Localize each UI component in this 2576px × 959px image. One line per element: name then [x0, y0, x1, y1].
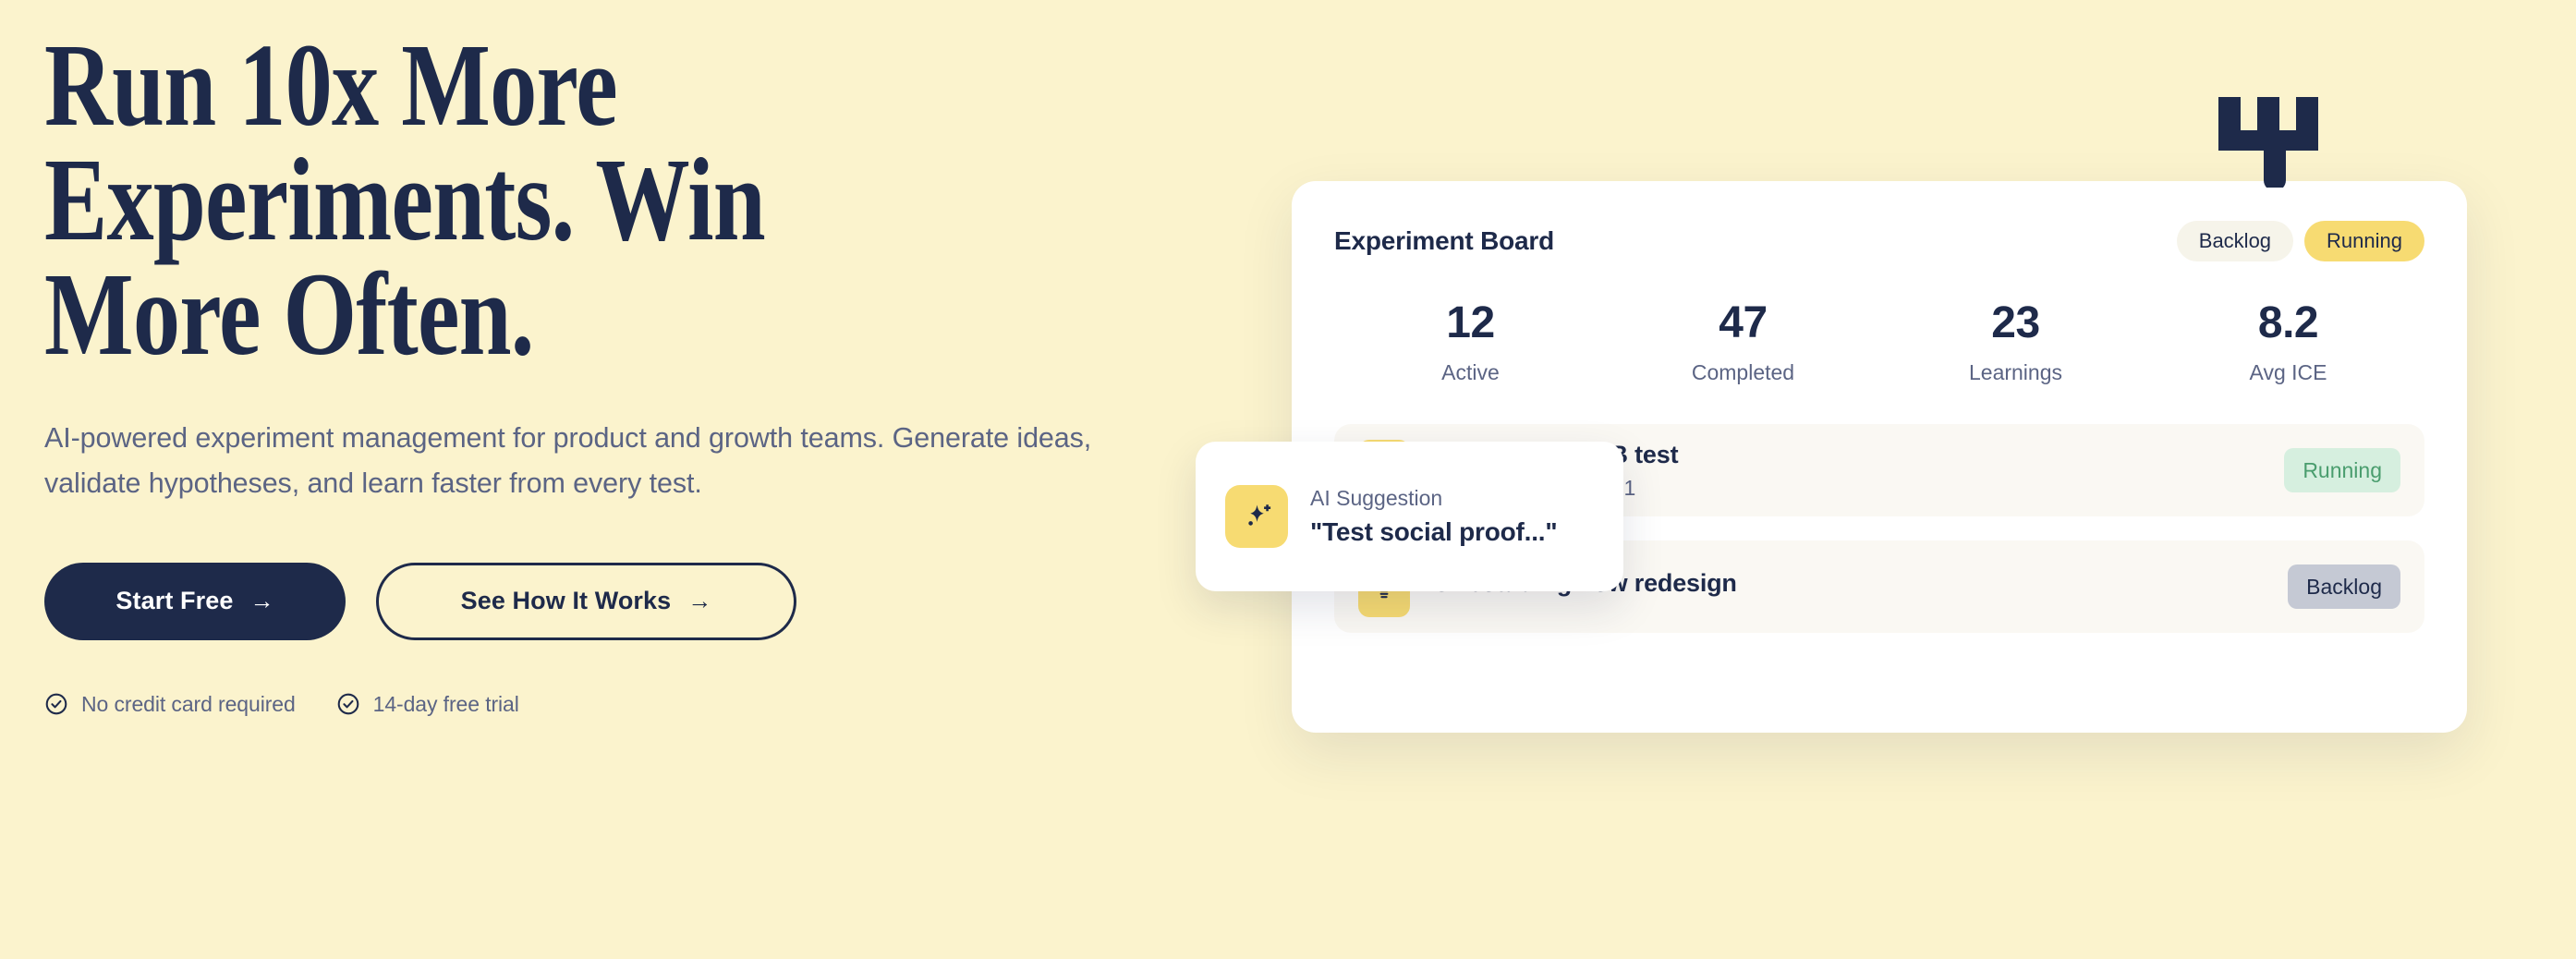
board-title: Experiment Board [1334, 226, 1554, 256]
board-header: Experiment Board Backlog Running [1334, 222, 2424, 261]
check-circle-icon [44, 692, 68, 716]
board-stats-row: 12 Active 47 Completed 23 Learnings 8.2 … [1334, 301, 2424, 385]
filter-pill-running[interactable]: Running [2304, 221, 2424, 261]
ai-suggestion-label: AI Suggestion [1310, 485, 1557, 512]
trust-label: No credit card required [81, 692, 296, 717]
stat-value: 8.2 [2152, 301, 2424, 346]
stat-value: 47 [1607, 301, 1879, 346]
cta-button-row: Start Free → See How It Works → [44, 563, 1229, 640]
stat-label: Avg ICE [2152, 360, 2424, 385]
stat-completed: 47 Completed [1607, 301, 1879, 385]
page-title: Run 10x More Experiments. Win More Often… [44, 28, 1242, 371]
see-how-it-works-label: See How It Works [461, 587, 672, 615]
stat-learnings: 23 Learnings [1879, 301, 2152, 385]
check-circle-icon [336, 692, 360, 716]
status-badge: Backlog [2288, 564, 2400, 609]
trust-item-free-trial: 14-day free trial [336, 692, 519, 717]
stat-active: 12 Active [1334, 301, 1607, 385]
see-how-it-works-button[interactable]: See How It Works → [376, 563, 796, 640]
stat-label: Learnings [1879, 360, 2152, 385]
status-badge: Running [2284, 448, 2400, 492]
arrow-right-icon: → [687, 587, 711, 615]
stat-value: 23 [1879, 301, 2152, 346]
hero-subhead: AI-powered experiment management for pro… [44, 416, 1125, 504]
trust-label: 14-day free trial [373, 692, 519, 717]
trust-badges-row: No credit card required 14-day free tria… [44, 692, 1229, 717]
stat-value: 12 [1334, 301, 1607, 346]
stat-label: Completed [1607, 360, 1879, 385]
hero-left-column: Run 10x More Experiments. Win More Often… [0, 0, 1229, 959]
sparkle-icon [1225, 485, 1288, 548]
ai-suggestion-quote: "Test social proof..." [1310, 516, 1557, 548]
start-free-label: Start Free [115, 587, 233, 615]
trust-item-no-credit-card: No credit card required [44, 692, 296, 717]
hero-right-column: Experiment Board Backlog Running 12 Acti… [1229, 0, 2576, 959]
ai-suggestion-text: AI Suggestion "Test social proof..." [1310, 485, 1557, 547]
start-free-button[interactable]: Start Free → [44, 563, 346, 640]
ai-suggestion-popup[interactable]: AI Suggestion "Test social proof..." [1196, 442, 1623, 591]
arrow-right-icon: → [249, 587, 273, 615]
stat-label: Active [1334, 360, 1607, 385]
board-filter-group: Backlog Running [2177, 221, 2424, 261]
filter-pill-backlog[interactable]: Backlog [2177, 221, 2293, 261]
trident-logo-icon [2217, 97, 2332, 188]
stat-avg-ice: 8.2 Avg ICE [2152, 301, 2424, 385]
hero-section: Run 10x More Experiments. Win More Often… [0, 0, 2576, 959]
